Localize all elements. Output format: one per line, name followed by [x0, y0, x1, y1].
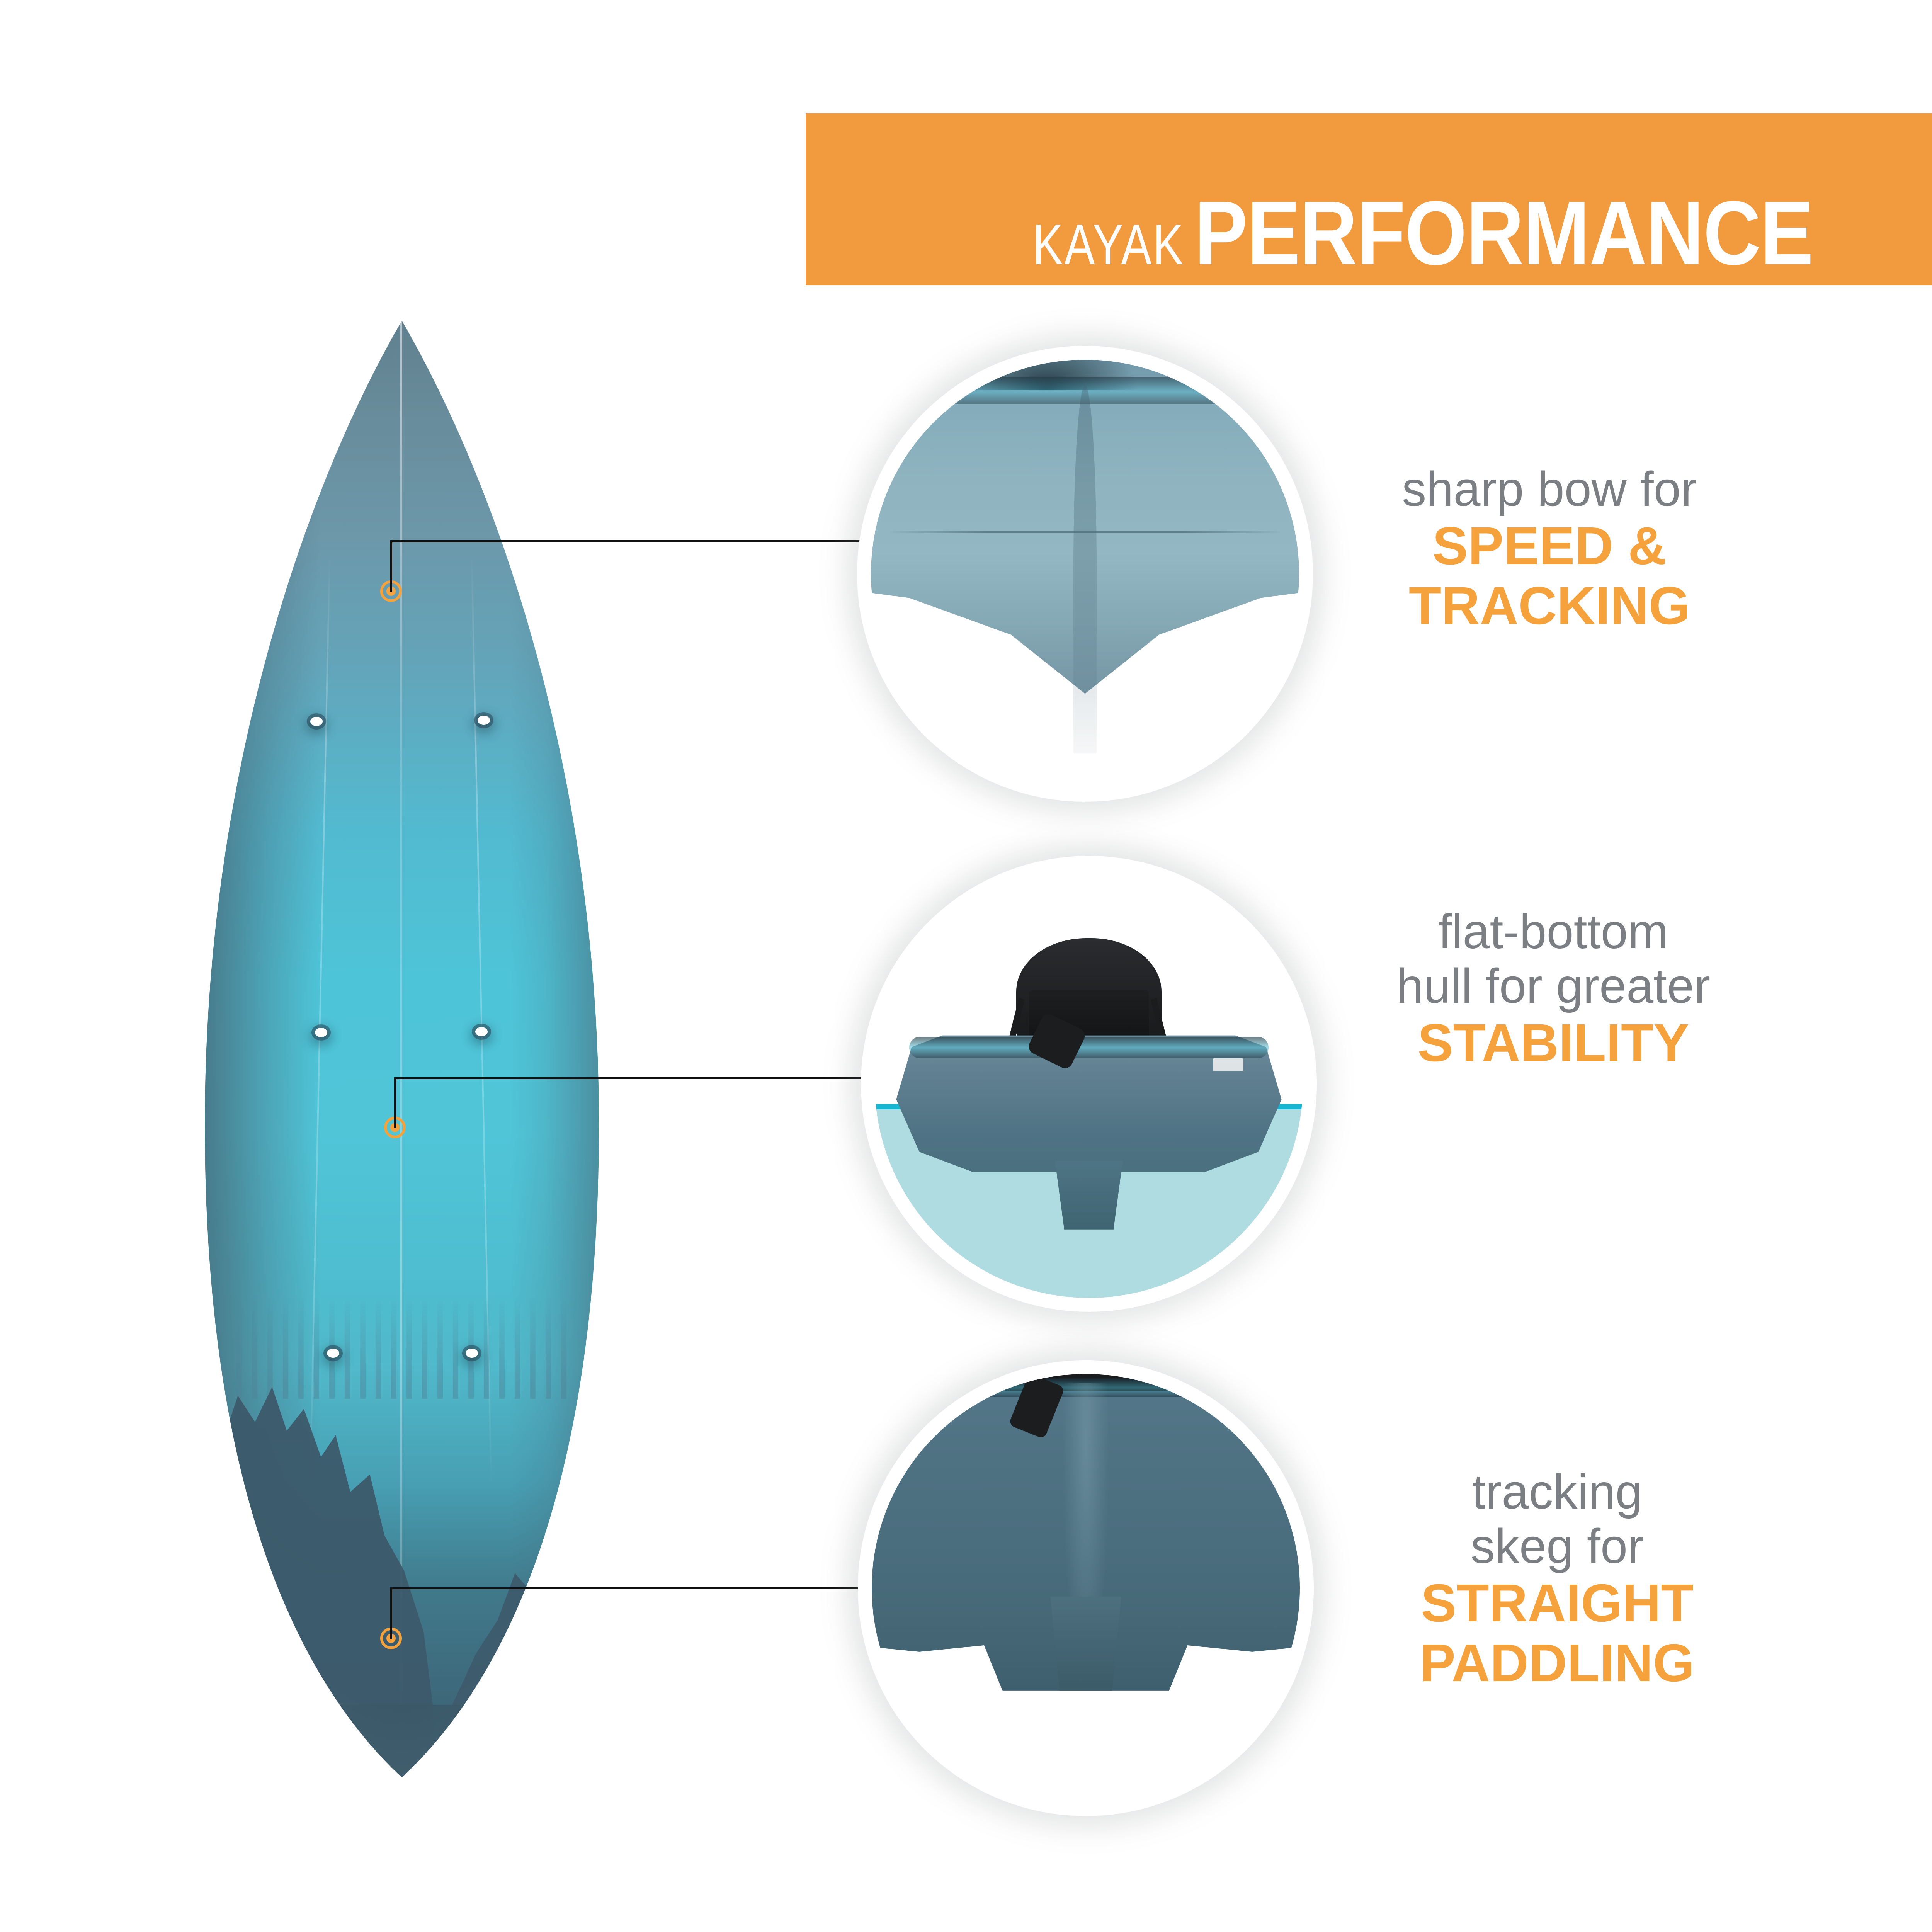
hull-brand-sticker: [1213, 1058, 1243, 1071]
tracking-skeg-fin: [1047, 1597, 1124, 1691]
hull-camo-drips: [236, 1297, 568, 1399]
skeg-detail-photo-inner: [872, 1374, 1300, 1802]
callout-text-hull: flat-bottom hull for greater STABILITY: [1349, 904, 1758, 1073]
scupper-hole: [466, 1349, 478, 1358]
kayak-hull-body: [205, 321, 599, 1777]
bow-detail-photo-inner: [871, 360, 1299, 788]
scupper-hole: [475, 1027, 488, 1036]
callout-hull-light-line-1: flat-bottom: [1349, 904, 1758, 959]
callout-bow-light-line: sharp bow for: [1345, 462, 1754, 516]
callout-hull-bold-line-1: STABILITY: [1349, 1013, 1758, 1073]
header-bar: KAYAK PERFORMANCE: [806, 113, 1932, 285]
hull-right-shading: [510, 321, 599, 1777]
kayak-hull-image: [205, 321, 599, 1777]
header-eyebrow: KAYAK: [1032, 216, 1184, 274]
leader-line-skeg-horizontal: [390, 1587, 862, 1589]
page-title: KAYAK PERFORMANCE: [995, 187, 1897, 278]
scupper-hole: [310, 717, 323, 726]
hull-gunwale-band: [909, 1037, 1269, 1058]
infographic-canvas: KAYAK PERFORMANCE: [0, 0, 1932, 1932]
bow-detail-photo: [857, 346, 1313, 802]
scupper-hole: [327, 1349, 339, 1358]
callout-hull-light-line-2: hull for greater: [1349, 959, 1758, 1013]
scupper-hole: [315, 1028, 327, 1037]
callout-skeg-bold-line-1: STRAIGHT: [1352, 1573, 1762, 1633]
bow-keel-ridge: [1073, 385, 1097, 753]
callout-skeg-bold-line-2: PADDLING: [1352, 1633, 1762, 1693]
header-title-text: PERFORMANCE: [1194, 187, 1813, 278]
hull-cross-section-photo-inner: [875, 870, 1303, 1298]
skeg-detail-photo: [858, 1360, 1314, 1816]
hull-keel-line: [400, 321, 402, 1777]
callout-text-bow: sharp bow for SPEED & TRACKING: [1345, 462, 1754, 636]
hull-camo-patch-stern: [236, 1705, 568, 1778]
callout-skeg-light-line-2: skeg for: [1352, 1519, 1762, 1573]
leader-line-bow-horizontal: [390, 540, 860, 542]
callout-skeg-light-line-1: tracking: [1352, 1464, 1762, 1519]
callout-text-skeg: tracking skeg for STRAIGHT PADDLING: [1352, 1464, 1762, 1693]
callout-bow-bold-line-1: SPEED &: [1345, 516, 1754, 576]
scupper-hole: [478, 716, 490, 725]
callout-bow-bold-line-2: TRACKING: [1345, 576, 1754, 636]
leader-line-bow-vertical: [390, 541, 392, 592]
leader-line-skeg-vertical: [390, 1588, 392, 1639]
leader-line-hull-horizontal: [394, 1077, 865, 1079]
leader-line-hull-vertical: [394, 1078, 396, 1128]
hull-cross-section-photo: [861, 856, 1317, 1312]
